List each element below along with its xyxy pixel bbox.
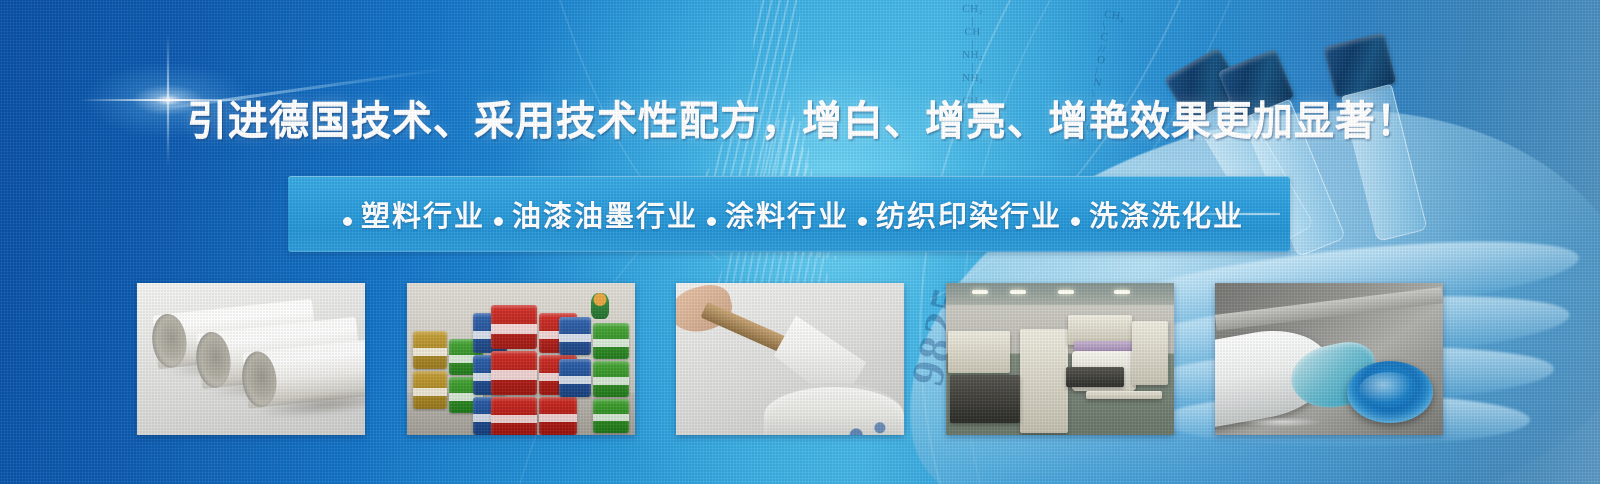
thumbnail-textile-factory[interactable]	[946, 283, 1174, 435]
thumbnail-paint-buckets[interactable]	[407, 283, 635, 435]
bullet-dot-icon	[343, 217, 352, 226]
bullet-dot-icon	[1071, 217, 1080, 226]
thumbnail-strip	[137, 283, 1443, 435]
paint-bucket	[593, 399, 629, 433]
bullet-dot-icon	[858, 217, 867, 226]
measuring-cap	[1347, 361, 1433, 423]
headline: 引进德国技术、采用技术性配方，增白、增亮、增艳效果更加显著！	[0, 88, 1600, 146]
mascot-figure-icon	[591, 293, 609, 319]
industry-label: 涂料行业	[725, 193, 849, 235]
paint-bucket	[539, 397, 577, 435]
paint-bucket	[593, 361, 629, 397]
paint-bucket	[491, 397, 537, 435]
paint-bucket	[413, 331, 447, 369]
surface-glint	[1239, 417, 1323, 427]
machine-rail	[1086, 391, 1162, 399]
paint-bucket	[491, 351, 537, 395]
factory-ceiling	[946, 283, 1174, 305]
paint-bucket	[491, 305, 537, 349]
ceiling-lamp-icon	[1114, 290, 1130, 294]
loom-machine	[948, 331, 1010, 373]
paint-bucket	[559, 317, 591, 355]
thumbnail-detergent[interactable]	[1215, 283, 1443, 435]
industry-label: 洗涤洗化业	[1089, 193, 1244, 235]
bullet-dot-icon	[494, 217, 503, 226]
industries-bar: 塑料行业 油漆油墨行业 涂料行业 纺织印染行业 洗涤洗化业	[288, 176, 1290, 252]
loom-machine-dark	[950, 375, 1020, 423]
machine-belt	[1066, 367, 1124, 387]
thumbnail-pvc-pipes[interactable]	[137, 283, 365, 435]
industry-label: 纺织印染行业	[876, 193, 1062, 235]
industry-label: 油漆油墨行业	[512, 193, 698, 235]
ceiling-lamp-icon	[1058, 290, 1074, 294]
bullet-dot-icon	[707, 217, 716, 226]
loom-machine	[1132, 321, 1168, 385]
paint-bucket	[593, 323, 629, 359]
paint-bucket	[413, 371, 447, 409]
ceiling-lamp-icon	[1010, 290, 1026, 294]
ceiling-lamp-icon	[972, 290, 988, 294]
industries-list: 塑料行业 油漆油墨行业 涂料行业 纺织印染行业 洗涤洗化业	[334, 193, 1244, 235]
paint-bucket	[559, 359, 591, 397]
thumbnail-paint-brush[interactable]	[676, 283, 904, 435]
loom-machine	[1020, 329, 1068, 433]
industry-label: 塑料行业	[361, 193, 485, 235]
promo-banner: CH₂ | CH | NH₂ | NH₂ | CH₂ CH₂ \ C // O …	[0, 0, 1600, 484]
